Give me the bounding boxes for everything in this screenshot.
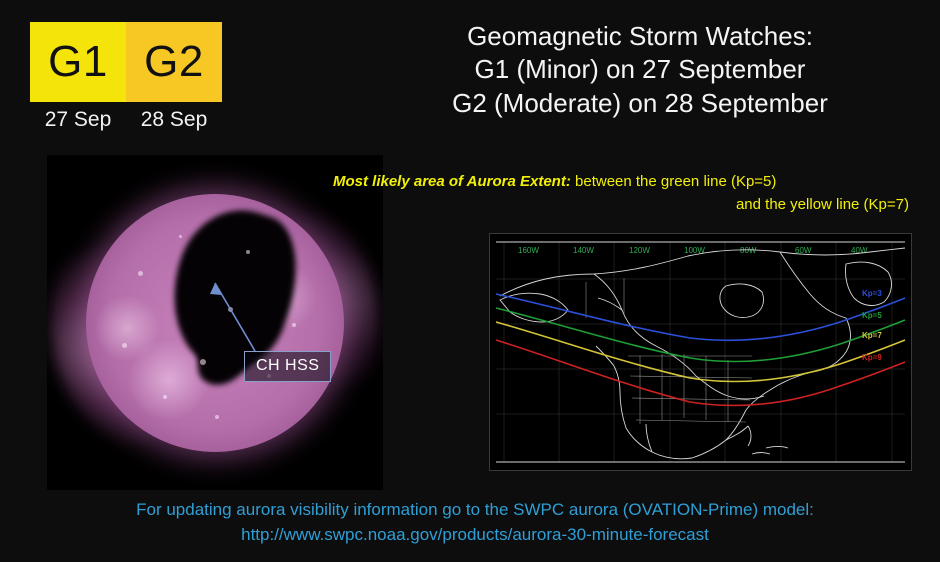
- kp-label-9: Kp=9: [862, 353, 882, 362]
- page-title: Geomagnetic Storm Watches: G1 (Minor) on…: [370, 20, 910, 120]
- aurora-note-lead: Most likely area of Aurora Extent:: [333, 173, 571, 190]
- badge-g1: G1: [30, 22, 126, 102]
- swpc-model-link[interactable]: For updating aurora visibility informati…: [60, 498, 890, 547]
- footer-line-1: For updating aurora visibility informati…: [60, 498, 890, 523]
- badge-date-28sep: 28 Sep: [126, 108, 222, 132]
- ch-hss-label: CH HSS: [256, 357, 319, 374]
- badge-g1-label: G1: [48, 40, 108, 84]
- aurora-extent-note: Most likely area of Aurora Extent: betwe…: [333, 170, 913, 217]
- kp-label-3: Kp=3: [862, 289, 882, 298]
- ch-hss-callout-box: CH HSS: [244, 351, 331, 382]
- slide-canvas: G1 G2 27 Sep 28 Sep Geomagnetic Storm Wa…: [0, 0, 940, 562]
- svg-text:120W: 120W: [629, 246, 650, 255]
- svg-text:140W: 140W: [573, 246, 594, 255]
- storm-scale-badges: G1 G2: [30, 22, 222, 102]
- badge-date-row: 27 Sep 28 Sep: [30, 108, 222, 132]
- kp-label-5: Kp=5: [862, 311, 882, 320]
- aurora-note-line-2: and the yellow line (Kp=7): [333, 193, 913, 216]
- title-line-2: G1 (Minor) on 27 September: [370, 53, 910, 86]
- svg-text:80W: 80W: [740, 246, 757, 255]
- solar-disk: [86, 194, 344, 452]
- title-line-1: Geomagnetic Storm Watches:: [370, 20, 910, 53]
- badge-g2: G2: [126, 22, 222, 102]
- kp-label-7: Kp=7: [862, 331, 882, 340]
- aurora-forecast-map: 160W 140W 120W 100W 80W 60W 40W: [489, 233, 912, 471]
- svg-text:160W: 160W: [518, 246, 539, 255]
- title-line-3: G2 (Moderate) on 28 September: [370, 87, 910, 120]
- aurora-note-line-1: Most likely area of Aurora Extent: betwe…: [333, 170, 913, 193]
- footer-url[interactable]: http://www.swpc.noaa.gov/products/aurora…: [60, 523, 890, 548]
- badge-date-27sep: 27 Sep: [30, 108, 126, 132]
- aurora-note-line-1-rest: between the green line (Kp=5): [571, 173, 777, 190]
- aurora-map-graphic: 160W 140W 120W 100W 80W 60W 40W: [490, 234, 911, 470]
- badge-g2-label: G2: [144, 40, 204, 84]
